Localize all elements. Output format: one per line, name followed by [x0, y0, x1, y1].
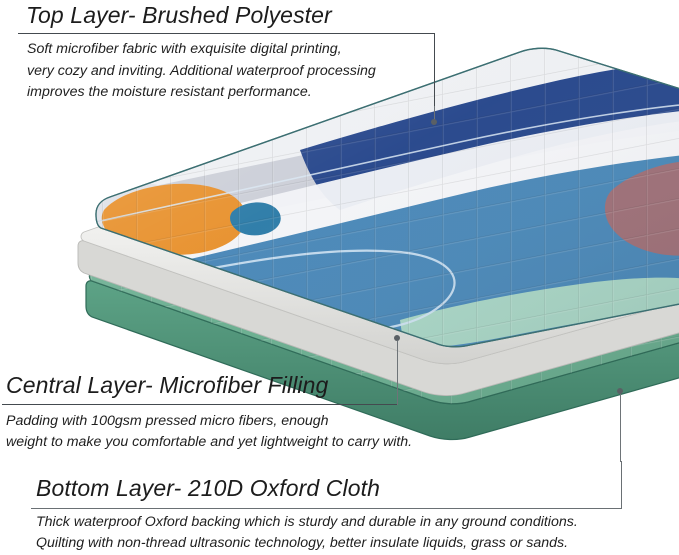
infographic-page: Top Layer- Brushed Polyester Soft microf…	[0, 0, 679, 555]
bottom-layer-description: Thick waterproof Oxford backing which is…	[36, 512, 578, 554]
top-callout-leader-dot	[431, 119, 437, 125]
bottom-callout-rule-vertical	[621, 461, 622, 509]
central-layer-description: Padding with 100gsm pressed micro fibers…	[6, 411, 412, 453]
bottom-callout-leader-line	[620, 392, 621, 462]
central-callout-leader-line	[397, 341, 398, 405]
bottom-callout-leader-dot	[617, 388, 623, 394]
top-layer-description: Soft microfiber fabric with exquisite di…	[27, 39, 376, 104]
bottom-layer-heading: Bottom Layer- 210D Oxford Cloth	[36, 473, 380, 503]
top-layer-heading: Top Layer- Brushed Polyester	[26, 0, 332, 30]
central-callout-leader-dot	[394, 335, 400, 341]
bottom-callout-rule-horizontal	[31, 508, 621, 509]
central-layer-heading: Central Layer- Microfiber Filling	[6, 370, 328, 400]
central-callout-rule-horizontal	[2, 404, 398, 405]
top-callout-rule-horizontal	[18, 33, 435, 34]
top-callout-rule-vertical	[434, 33, 435, 107]
